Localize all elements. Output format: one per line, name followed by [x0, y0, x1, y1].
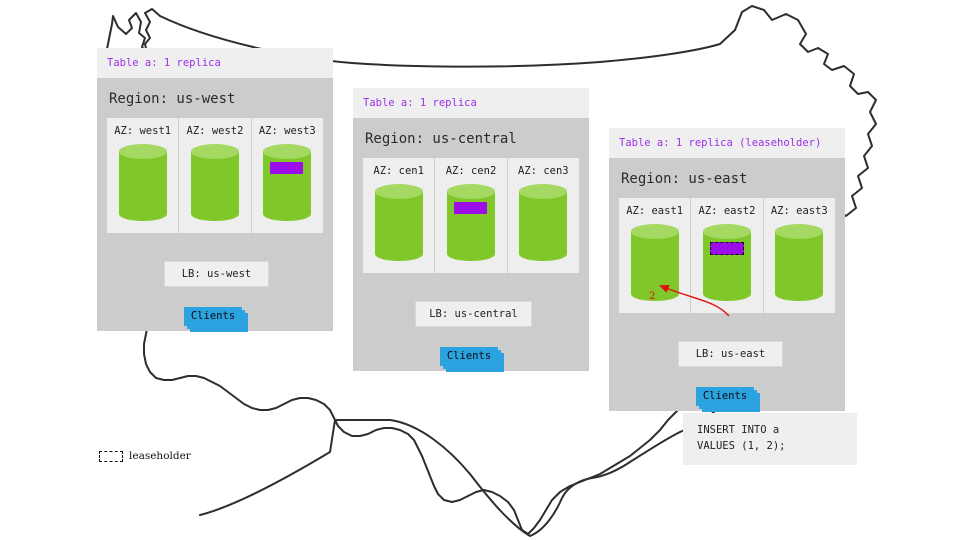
- az-cell-west3: AZ: west3: [252, 118, 323, 233]
- replica-block-cen2[interactable]: [454, 202, 487, 214]
- az-label-west2: AZ: west2: [187, 125, 244, 137]
- node-cylinder-east3[interactable]: [775, 224, 823, 301]
- node-cylinder-east1[interactable]: [631, 224, 679, 301]
- cylinder-body: [263, 151, 311, 214]
- panel-body-us-west: Region: us-west AZ: west1 AZ: west2: [97, 78, 333, 331]
- region-panel-us-central: Table a: 1 replica Region: us-central AZ…: [353, 88, 589, 371]
- legend-label: leaseholder: [129, 450, 191, 462]
- region-title-us-east: Region: us-east: [619, 158, 835, 198]
- panel-body-us-central: Region: us-central AZ: cen1 AZ: cen2: [353, 118, 589, 371]
- az-cell-cen3: AZ: cen3: [508, 158, 579, 273]
- region-panel-us-west: Table a: 1 replica Region: us-west AZ: w…: [97, 48, 333, 331]
- panel-body-us-east: Region: us-east AZ: east1 AZ: east2: [609, 158, 845, 411]
- cylinder-body: [703, 231, 751, 294]
- sql-statement-box: INSERT INTO a VALUES (1, 2);: [683, 413, 857, 465]
- load-balancer-us-west[interactable]: LB: us-west: [164, 261, 269, 287]
- clients-label: Clients: [191, 310, 235, 322]
- node-cylinder-cen1[interactable]: [375, 184, 423, 261]
- cylinder-top: [119, 144, 167, 159]
- cylinder-top: [631, 224, 679, 239]
- cylinder-body: [447, 191, 495, 254]
- dashed-rect-icon: [99, 451, 123, 462]
- arrow-label-2: 2: [649, 291, 655, 302]
- panel-header-us-east: Table a: 1 replica (leaseholder): [609, 128, 845, 158]
- az-label-cen3: AZ: cen3: [518, 165, 569, 177]
- clients-stack-us-west[interactable]: Clients: [184, 307, 248, 332]
- az-row-us-west: AZ: west1 AZ: west2 AZ: [107, 118, 323, 233]
- cylinder-body: [631, 231, 679, 294]
- az-cell-east3: AZ: east3: [764, 198, 835, 313]
- node-cylinder-east2[interactable]: [703, 224, 751, 301]
- az-cell-west2: AZ: west2: [179, 118, 251, 233]
- load-balancer-us-central[interactable]: LB: us-central: [415, 301, 532, 327]
- az-label-east3: AZ: east3: [771, 205, 828, 217]
- cylinder-body: [519, 191, 567, 254]
- az-label-west1: AZ: west1: [114, 125, 171, 137]
- cylinder-top: [191, 144, 239, 159]
- replica-block-east2-leaseholder[interactable]: [710, 242, 744, 255]
- az-label-east2: AZ: east2: [699, 205, 756, 217]
- cylinder-body: [775, 231, 823, 294]
- cylinder-body: [119, 151, 167, 214]
- az-cell-cen1: AZ: cen1: [363, 158, 435, 273]
- legend-leaseholder: leaseholder: [99, 450, 191, 462]
- clients-stack-us-central[interactable]: Clients: [440, 347, 504, 372]
- az-cell-east2: AZ: east2: [691, 198, 763, 313]
- az-label-west3: AZ: west3: [259, 125, 316, 137]
- cylinder-top: [775, 224, 823, 239]
- region-title-us-central: Region: us-central: [363, 118, 579, 158]
- panel-header-us-west: Table a: 1 replica: [97, 48, 333, 78]
- az-label-cen1: AZ: cen1: [373, 165, 424, 177]
- node-cylinder-west3[interactable]: [263, 144, 311, 221]
- node-cylinder-west1[interactable]: [119, 144, 167, 221]
- cylinder-top: [519, 184, 567, 199]
- diagram-canvas: Table a: 1 replica Region: us-west AZ: w…: [0, 0, 960, 540]
- cylinder-body: [191, 151, 239, 214]
- clients-label: Clients: [703, 390, 747, 402]
- region-title-us-west: Region: us-west: [107, 78, 323, 118]
- cylinder-top: [375, 184, 423, 199]
- az-row-us-central: AZ: cen1 AZ: cen2: [363, 158, 579, 273]
- region-panel-us-east: Table a: 1 replica (leaseholder) Region:…: [609, 128, 845, 411]
- node-cylinder-cen3[interactable]: [519, 184, 567, 261]
- clients-sheet-front[interactable]: Clients: [440, 347, 498, 366]
- panel-header-us-central: Table a: 1 replica: [353, 88, 589, 118]
- replica-block-west3[interactable]: [270, 162, 303, 174]
- cylinder-top: [263, 144, 311, 159]
- az-cell-west1: AZ: west1: [107, 118, 179, 233]
- node-cylinder-west2[interactable]: [191, 144, 239, 221]
- az-cell-cen2: AZ: cen2: [435, 158, 507, 273]
- clients-sheet-front[interactable]: Clients: [696, 387, 754, 406]
- clients-stack-us-east[interactable]: Clients: [696, 387, 760, 412]
- clients-label: Clients: [447, 350, 491, 362]
- cylinder-top: [447, 184, 495, 199]
- node-cylinder-cen2[interactable]: [447, 184, 495, 261]
- clients-sheet-front[interactable]: Clients: [184, 307, 242, 326]
- cylinder-body: [375, 191, 423, 254]
- az-label-east1: AZ: east1: [626, 205, 683, 217]
- cylinder-top: [703, 224, 751, 239]
- az-label-cen2: AZ: cen2: [446, 165, 497, 177]
- load-balancer-us-east[interactable]: LB: us-east: [678, 341, 783, 367]
